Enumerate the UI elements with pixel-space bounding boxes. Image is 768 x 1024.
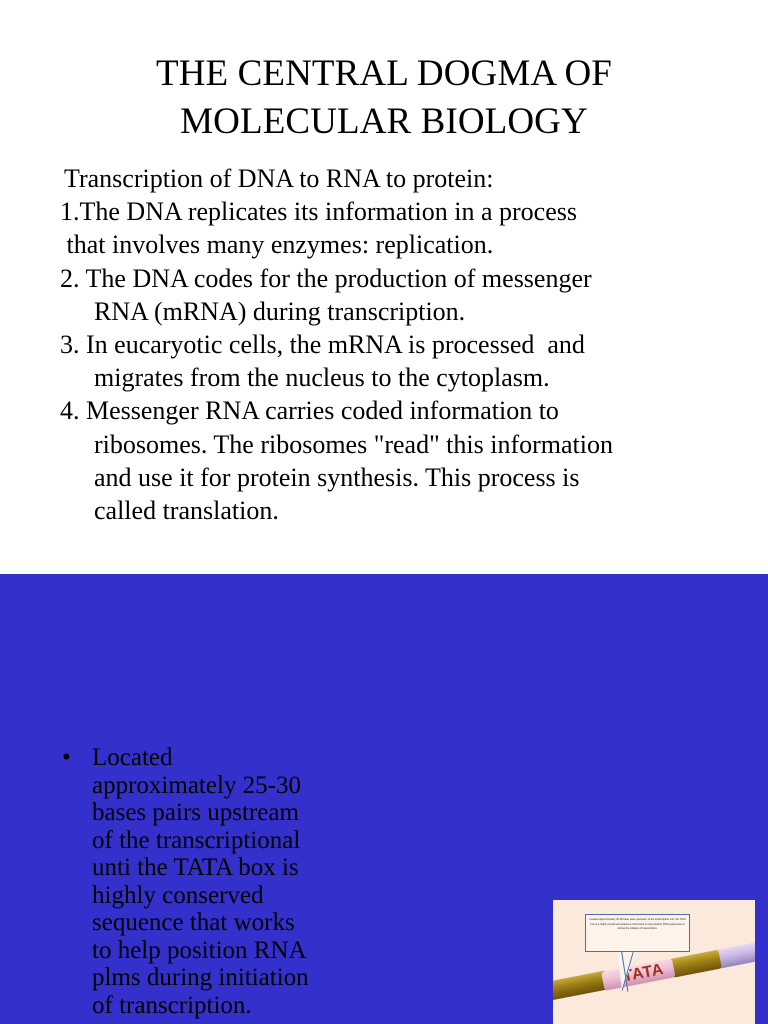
bullet-marker-icon: • <box>62 744 92 772</box>
list-item-4-line-4: called translation. <box>94 494 758 527</box>
bullet-line-9: plms during initiation <box>92 964 342 992</box>
list-item-4-line-3: and use it for protein synthesis. This p… <box>94 461 758 494</box>
list-item-2-line-2: RNA (mRNA) during transcription. <box>94 295 758 328</box>
list-item-3-line-2: migrates from the nucleus to the cytopla… <box>94 361 758 394</box>
bullet-line-3: bases pairs upstream <box>92 799 342 827</box>
slide-white: THE CENTRAL DOGMA OF MOLECULAR BIOLOGY T… <box>0 0 768 574</box>
list-item-1-line-1: 1.The DNA replicates its information in … <box>60 195 758 228</box>
callout-text: Located approximately 25-30 base pairs u… <box>589 918 686 932</box>
bullet-line-10: of transcription. <box>92 992 342 1020</box>
bullet-line-8: to help position RNA <box>92 937 342 965</box>
list-item-2-line-1: 2. The DNA codes for the production of m… <box>60 262 758 295</box>
bullet-line-5: unti the TATA box is <box>92 854 342 882</box>
list-item-4-line-1: 4. Messenger RNA carries coded informati… <box>60 394 758 427</box>
bullet-line-4: of the transcriptional <box>92 827 342 855</box>
bullet-text: Located approximately 25-30 bases pairs … <box>92 744 342 1019</box>
list-intro-line: Transcription of DNA to RNA to protein: <box>64 162 758 195</box>
page-title-line-2: MOLECULAR BIOLOGY <box>0 98 768 146</box>
list-item-4-line-2: ribosomes. The ribosomes "read" this inf… <box>94 428 758 461</box>
numbered-list: Transcription of DNA to RNA to protein: … <box>58 162 758 527</box>
page-title-line-1: THE CENTRAL DOGMA OF <box>0 50 768 98</box>
bullet-line-7: sequence that works <box>92 909 342 937</box>
tata-box-figure: TATA Located approximately 25-30 base pa… <box>553 900 755 1024</box>
tata-figure-canvas: TATA Located approximately 25-30 base pa… <box>553 900 755 1024</box>
callout-box: Located approximately 25-30 base pairs u… <box>585 914 690 952</box>
slide-blue: • Located approximately 25-30 bases pair… <box>0 574 768 1024</box>
bullet-line-2: approximately 25-30 <box>92 772 342 800</box>
bullet-list: • Located approximately 25-30 bases pair… <box>62 744 342 1019</box>
page-title: THE CENTRAL DOGMA OF MOLECULAR BIOLOGY <box>0 50 768 146</box>
bullet-line-6: highly conserved <box>92 882 342 910</box>
list-item-3-line-1: 3. In eucaryotic cells, the mRNA is proc… <box>60 328 758 361</box>
list-item-1-line-2: that involves many enzymes: replication. <box>60 228 758 261</box>
bullet-line-1: Located <box>92 744 342 772</box>
